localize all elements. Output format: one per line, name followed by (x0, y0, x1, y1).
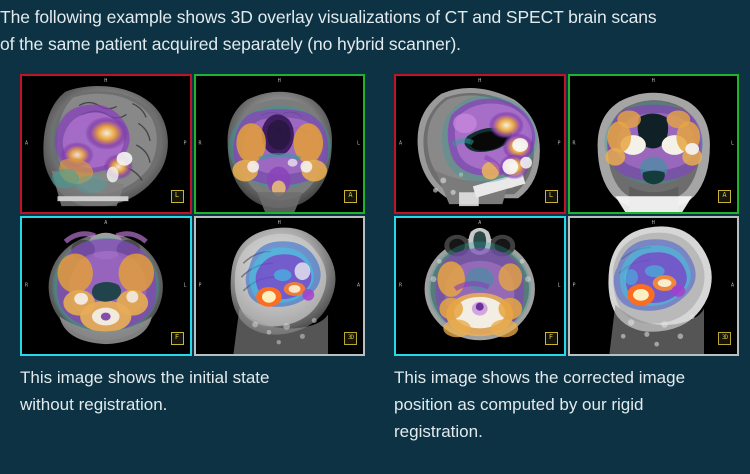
caption-area: This image shows the initial state witho… (0, 364, 750, 474)
view-tag-3d: 3D (718, 332, 731, 345)
scan-image-axial (396, 218, 564, 354)
panel-axial-registered[interactable]: A R L F (394, 216, 566, 356)
view-tag-sagittal: L (171, 190, 184, 203)
scan-image-coronal (570, 76, 738, 212)
page-root: The following example shows 3D overlay v… (0, 0, 750, 474)
orientation-top: H (278, 79, 281, 84)
intro-line-1: The following example shows 3D overlay v… (0, 4, 750, 31)
caption-line-1: This image shows the initial state (20, 364, 350, 391)
orientation-left: P (199, 284, 202, 289)
panel-coronal-registered[interactable]: H R L A (568, 74, 740, 214)
scan-image-axial (22, 218, 190, 354)
view-tag-axial: F (545, 332, 558, 345)
orientation-left: A (25, 142, 28, 147)
orientation-right: A (357, 284, 360, 289)
orientation-top: H (652, 79, 655, 84)
orientation-top: H (278, 221, 281, 226)
caption-line-1: This image shows the corrected image (394, 364, 736, 391)
orientation-left: R (573, 142, 576, 147)
caption-unregistered: This image shows the initial state witho… (20, 364, 350, 418)
orientation-right: L (557, 284, 560, 289)
figure-area: H A P L (0, 74, 750, 358)
panel-coronal-unregistered[interactable]: H R L A (194, 74, 366, 214)
figure-registered: H A P L (394, 74, 739, 356)
caption-line-3: registration. (394, 418, 736, 445)
orientation-top: H (478, 79, 481, 84)
scan-image-sagittal (22, 76, 190, 212)
orientation-right: P (183, 142, 186, 147)
panel-3d-registered[interactable]: H P A 3D (568, 216, 740, 356)
view-tag-coronal: A (344, 190, 357, 203)
orientation-left: R (25, 284, 28, 289)
orientation-left: R (399, 284, 402, 289)
scan-image-coronal (196, 76, 364, 212)
panel-sagittal-unregistered[interactable]: H A P L (20, 74, 192, 214)
panel-axial-unregistered[interactable]: A R L F (20, 216, 192, 356)
panel-3d-unregistered[interactable]: H P A 3D (194, 216, 366, 356)
orientation-right: L (183, 284, 186, 289)
view-tag-coronal: A (718, 190, 731, 203)
view-tag-3d: 3D (344, 332, 357, 345)
figure-unregistered: H A P L (20, 74, 365, 356)
orientation-top: A (478, 221, 481, 226)
orientation-left: P (573, 284, 576, 289)
caption-registered: This image shows the corrected image pos… (394, 364, 736, 445)
panel-sagittal-registered[interactable]: H A P L (394, 74, 566, 214)
view-tag-sagittal: L (545, 190, 558, 203)
view-tag-axial: F (171, 332, 184, 345)
orientation-right: P (557, 142, 560, 147)
scan-image-sagittal (396, 76, 564, 212)
intro-line-2: of the same patient acquired separately … (0, 31, 750, 58)
orientation-left: R (199, 142, 202, 147)
scan-image-3d (196, 218, 364, 354)
orientation-top: A (104, 221, 107, 226)
orientation-right: L (357, 142, 360, 147)
orientation-right: A (731, 284, 734, 289)
orientation-left: A (399, 142, 402, 147)
scan-image-3d (570, 218, 738, 354)
orientation-right: L (731, 142, 734, 147)
orientation-top: H (652, 221, 655, 226)
orientation-top: H (104, 79, 107, 84)
caption-line-2: without registration. (20, 391, 350, 418)
caption-line-2: position as computed by our rigid (394, 391, 736, 418)
intro-paragraph: The following example shows 3D overlay v… (0, 4, 750, 58)
